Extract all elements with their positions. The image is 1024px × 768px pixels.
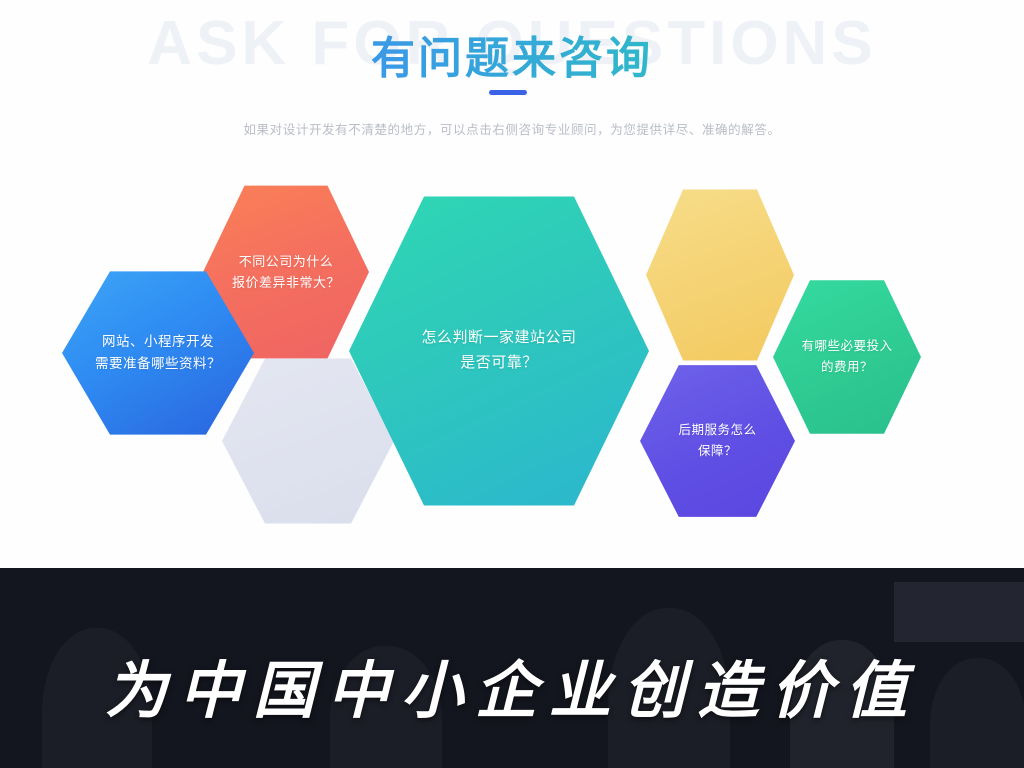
hexagon-question-reliability[interactable]: 怎么判断一家建站公司是否可靠？ [349,190,649,512]
hexagon-orange-label: 不同公司为什么报价差异非常大？ [224,251,348,294]
page-subtitle: 如果对设计开发有不清楚的地方，可以点击右侧咨询专业顾问，为您提供详尽、准确的解答… [0,119,1024,138]
faq-section: ASK FOR QUESTIONS 有问题来咨询 如果对设计开发有不清楚的地方，… [0,0,1024,568]
hexagon-teal-label: 怎么判断一家建站公司是否可靠？ [413,326,584,376]
background-panel [894,582,1024,642]
hexagon-question-service[interactable]: 后期服务怎么保障？ [640,362,795,520]
dark-banner: 为中国中小企业创造价值 [0,568,1024,768]
hexagon-question-costs[interactable]: 有哪些必要投入的费用？ [773,277,921,437]
hexagon-blue-label: 网站、小程序开发需要准备哪些资料？ [87,331,229,376]
hexagon-empty-yellow[interactable] [646,186,794,364]
banner-slogan: 为中国中小企业创造价值 [0,640,1024,730]
hexagon-green-label: 有哪些必要投入的费用？ [793,336,900,377]
hexagon-purple-label: 后期服务怎么保障？ [670,420,764,461]
title-divider [489,90,527,95]
page-title: 有问题来咨询 [0,22,1024,86]
